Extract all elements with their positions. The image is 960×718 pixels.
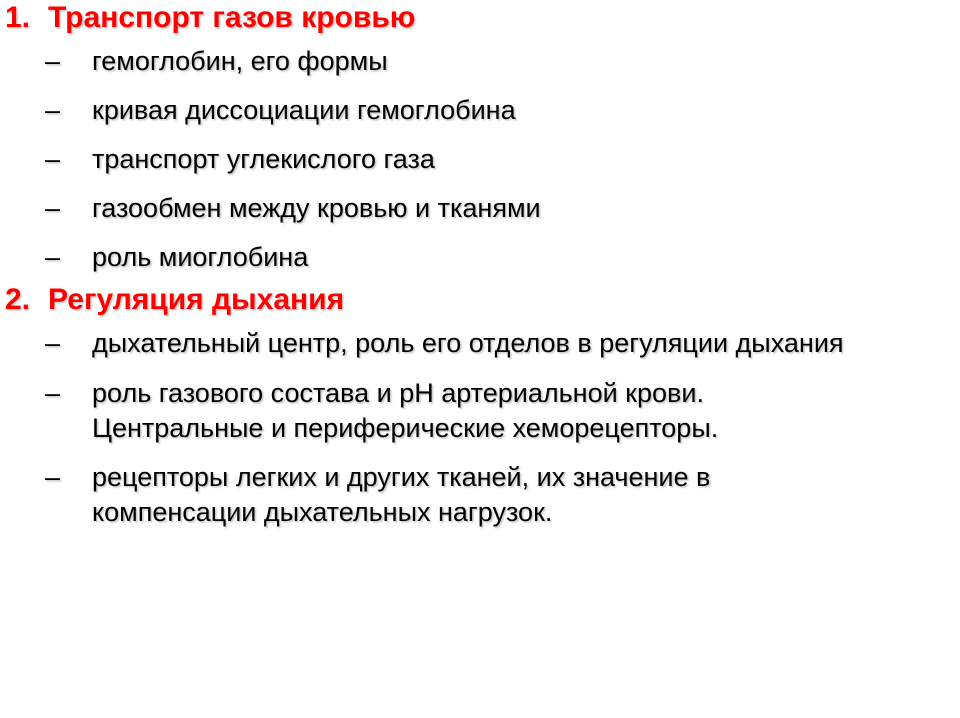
outline-subitem[interactable]: – газообмен между кровью и тканями [0, 184, 960, 233]
outline-subitem[interactable]: – транспорт углекислого газа [0, 135, 960, 184]
outline-heading-number: 1. [0, 3, 48, 33]
dash-bullet-icon: – [45, 460, 92, 495]
outline-subitem[interactable]: – роль миоглобина [0, 233, 960, 282]
outline-subitem[interactable]: – дыхательный центр, роль его отделов в … [0, 319, 960, 368]
outline-list: 1. Транспорт газов кровью – гемоглобин, … [0, 0, 960, 537]
outline-heading-label: Регуляция дыхания [48, 285, 960, 315]
outline-subitem-label: дыхательный центр, роль его отделов в ре… [92, 326, 844, 361]
outline-subitem[interactable]: – рецепторы легких и других тканей, их з… [0, 453, 960, 537]
outline-subitem[interactable]: – кривая диссоциации гемоглобина [0, 86, 960, 135]
outline-subitem[interactable]: – гемоглобин, его формы [0, 37, 960, 86]
outline-subitem-label: роль газового состава и рН артериальной … [92, 376, 874, 446]
dash-bullet-icon: – [45, 240, 92, 275]
outline-heading[interactable]: 2. Регуляция дыхания [0, 282, 960, 319]
dash-bullet-icon: – [45, 93, 92, 128]
slide-canvas: 1. Транспорт газов кровью – гемоглобин, … [0, 0, 960, 718]
dash-bullet-icon: – [45, 142, 92, 177]
dash-bullet-icon: – [45, 191, 92, 226]
outline-subitem-label: кривая диссоциации гемоглобина [92, 93, 516, 128]
outline-subitem[interactable]: – роль газового состава и рН артериально… [0, 369, 960, 453]
outline-heading-number: 2. [0, 285, 48, 315]
dash-bullet-icon: – [45, 376, 92, 411]
outline-heading-label: Транспорт газов кровью [48, 3, 960, 33]
outline-subitem-label: транспорт углекислого газа [92, 142, 435, 177]
outline-subitem-label: гемоглобин, его формы [92, 44, 388, 79]
outline-subitem-label: рецепторы легких и других тканей, их зна… [92, 460, 874, 530]
outline-heading[interactable]: 1. Транспорт газов кровью [0, 0, 960, 37]
dash-bullet-icon: – [45, 44, 92, 79]
dash-bullet-icon: – [45, 326, 92, 361]
outline-subitem-label: газообмен между кровью и тканями [92, 191, 541, 226]
outline-subitem-label: роль миоглобина [92, 240, 308, 275]
